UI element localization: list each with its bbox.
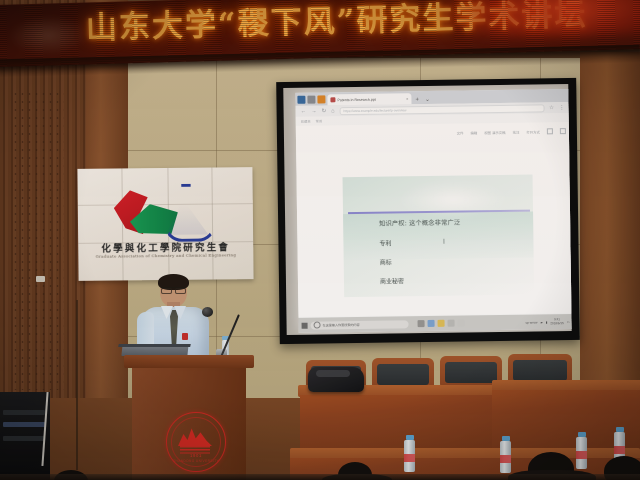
light-switch[interactable] bbox=[36, 276, 45, 282]
reload-icon[interactable]: ↻ bbox=[322, 108, 327, 114]
search-icon bbox=[314, 322, 321, 329]
wall-cable bbox=[76, 300, 78, 470]
forward-arrow-icon[interactable] bbox=[317, 95, 325, 103]
projection-screen: Patents in Research.ppt × + ⌄ ← → ↻ ⌂ ht… bbox=[276, 78, 580, 344]
slide-bullet-0: 专利 bbox=[379, 239, 391, 248]
led-glare bbox=[434, 0, 640, 41]
fullscreen-icon[interactable] bbox=[560, 128, 566, 134]
podium: 1901 SHANDONG UNIVERSITY bbox=[124, 355, 254, 480]
podium-top bbox=[124, 355, 254, 368]
taskbar-tray: up-arrow ▰ ▮ 9:41 2018/6/15 ▭ bbox=[525, 318, 569, 325]
toolbar-item-4[interactable]: 打开方式 bbox=[526, 129, 540, 134]
water-bottle bbox=[576, 437, 587, 469]
acoustic-perforation bbox=[12, 90, 64, 390]
department-logo bbox=[108, 177, 225, 236]
lecture-hall-photo: 山东大学“稷下风”研究生学术讲坛 Patents in Research.ppt… bbox=[0, 0, 640, 480]
tab-favicon bbox=[330, 97, 335, 102]
windows-taskbar: 在这里输入你要搜索的内容 up-arrow ▰ ▮ 9: bbox=[298, 314, 571, 333]
taskbar-app-icons bbox=[418, 320, 465, 328]
toolbar-item-3[interactable]: 批注 bbox=[513, 129, 520, 134]
glasses-icon bbox=[161, 287, 186, 293]
folder-icon[interactable] bbox=[438, 320, 445, 327]
browser-window: Patents in Research.ppt × + ⌄ ← → ↻ ⌂ ht… bbox=[295, 89, 571, 333]
save-icon[interactable] bbox=[307, 96, 315, 104]
microphone-icon bbox=[202, 307, 213, 317]
start-icon[interactable] bbox=[302, 322, 308, 328]
notifications-icon[interactable]: ▭ bbox=[567, 320, 570, 324]
toolbar-item-1[interactable]: 编辑 bbox=[470, 130, 477, 135]
slide-bullet-1: 商标 bbox=[380, 258, 392, 267]
close-icon[interactable]: × bbox=[406, 96, 408, 101]
lock-icon[interactable] bbox=[458, 320, 465, 327]
home-icon[interactable]: ⌂ bbox=[331, 108, 334, 114]
screen-surface: Patents in Research.ppt × + ⌄ ← → ↻ ⌂ ht… bbox=[283, 84, 571, 335]
network-icon[interactable]: ▰ bbox=[540, 320, 542, 324]
podium-body: 1901 SHANDONG UNIVERSITY bbox=[132, 368, 246, 480]
department-name-english: Graduate Association of Chemistry and Ch… bbox=[78, 252, 253, 259]
desk-front-panel bbox=[300, 395, 496, 455]
browser-tab-title: Patents in Research.ppt bbox=[337, 97, 375, 102]
bookmark-item-1[interactable]: 常用 bbox=[316, 118, 323, 123]
volume-icon[interactable]: ▮ bbox=[546, 320, 548, 324]
quick-access-icon[interactable] bbox=[297, 96, 305, 104]
presentation-slide: 知识产权: 这个概念非常广泛 专利 商标 商业秘密 bbox=[343, 175, 535, 298]
university-emblem: 1901 SHANDONG UNIVERSITY bbox=[166, 412, 226, 472]
taskbar-search-input[interactable]: 在这里输入你要搜索的内容 bbox=[311, 320, 409, 329]
browser-content: 文件 编辑 视图 演示文稿 批注 打开方式 知识产权: 这个概念非常广泛 专利 bbox=[296, 122, 572, 317]
menu-icon[interactable]: ⋮ bbox=[559, 105, 565, 111]
tab-list-icon[interactable]: ⌄ bbox=[423, 96, 432, 103]
clock-date: 2018/6/15 bbox=[550, 322, 563, 326]
laptop-edge bbox=[118, 344, 191, 347]
department-banner: 化學與化工學院研究生會 Graduate Association of Chem… bbox=[77, 167, 253, 281]
shoulder-bag bbox=[308, 367, 364, 392]
text-cursor bbox=[443, 239, 444, 244]
back-icon[interactable]: ← bbox=[301, 108, 307, 114]
taskbar-clock[interactable]: 9:41 2018/6/15 bbox=[550, 318, 563, 325]
edge-icon[interactable] bbox=[428, 320, 435, 327]
wood-trim-right bbox=[580, 52, 640, 382]
led-reflection bbox=[8, 14, 89, 56]
taskbar-search-placeholder: 在这里输入你要搜索的内容 bbox=[323, 322, 360, 328]
toolbar-item-2[interactable]: 视图 演示文稿 bbox=[484, 129, 505, 134]
star-icon[interactable]: ☆ bbox=[549, 105, 554, 111]
bottom-edge-shadow bbox=[0, 474, 640, 480]
bookmark-item-0[interactable]: 收藏夹 bbox=[301, 119, 311, 124]
grid-icon[interactable] bbox=[547, 128, 553, 134]
store-icon[interactable] bbox=[448, 320, 455, 327]
slide-title: 知识产权: 这个概念非常广泛 bbox=[379, 218, 460, 228]
tray-up-arrow-icon[interactable]: up-arrow bbox=[526, 320, 538, 324]
chair bbox=[372, 358, 434, 388]
slide-bullet-2: 商业秘密 bbox=[380, 276, 404, 285]
emblem-mountain bbox=[178, 426, 212, 446]
water-bottle bbox=[500, 441, 511, 473]
forward-icon[interactable]: → bbox=[311, 108, 317, 114]
emblem-text: SHANDONG UNIVERSITY bbox=[167, 459, 225, 463]
water-bottle bbox=[404, 440, 415, 472]
emblem-year: 1901 bbox=[167, 453, 225, 458]
address-bar-text: https://www.example.edu/lecture/ip-overv… bbox=[344, 108, 407, 113]
name-badge bbox=[182, 333, 188, 340]
task-view-icon[interactable] bbox=[418, 320, 425, 327]
new-tab-button[interactable]: + bbox=[413, 97, 421, 103]
presentation-toolbar: 文件 编辑 视图 演示文稿 批注 打开方式 bbox=[457, 128, 566, 136]
toolbar-item-0[interactable]: 文件 bbox=[457, 130, 464, 135]
